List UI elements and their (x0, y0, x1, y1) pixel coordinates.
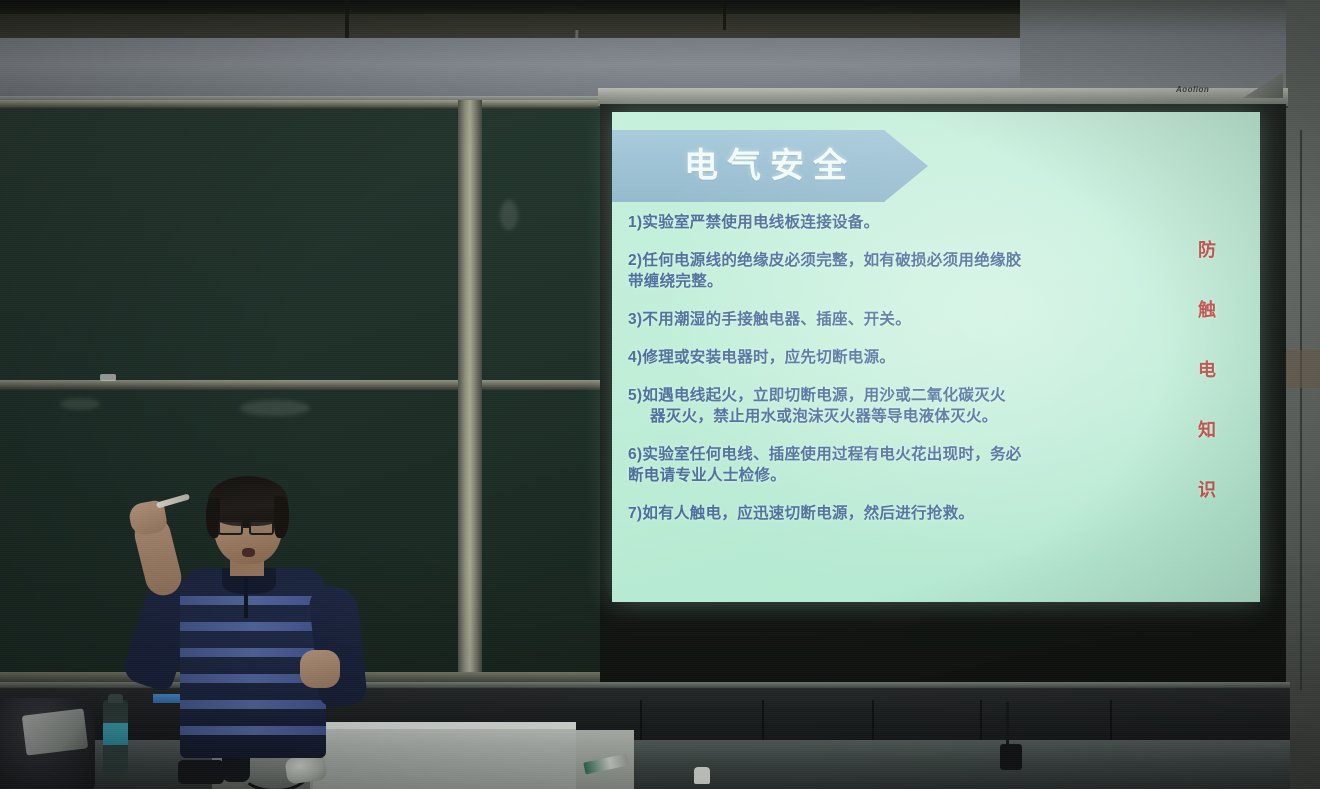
slide-list-item: 5)如遇电线起火，立即切断电源，用沙或二氧化碳灭火 器灭火，禁止用水或泡沫灭火器… (628, 385, 1128, 427)
slide-item-text: 实验室严禁使用电线板连接设备。 (642, 214, 879, 231)
side-note-char: 电 (1198, 360, 1216, 380)
slide-body: 1)实验室严禁使用电线板连接设备。 2)任何电源线的绝缘皮必须完整，如有破损必须… (628, 212, 1128, 541)
power-cable (1006, 702, 1009, 748)
lecturer-mouth (242, 548, 255, 557)
slide-item-number: 1) (628, 214, 642, 231)
slide-item-number: 7) (628, 505, 642, 522)
ceiling-beam-seam-secondary (723, 0, 726, 30)
chalkboard-frame-top (0, 100, 620, 109)
slide-item-number: 6) (628, 446, 642, 463)
small-desk-object (694, 767, 710, 784)
paper-sheet (22, 708, 88, 755)
shirt-stripe (180, 726, 326, 735)
slide-item-text: 任何电源线的绝缘皮必须完整，如有破损必须用绝缘胶 (642, 252, 1021, 269)
right-wall-seam (1300, 130, 1302, 690)
slide-item-number: 2) (628, 252, 642, 269)
power-plug (1000, 744, 1022, 770)
side-note-char: 防 (1198, 240, 1216, 260)
lecture-hall-scene: Aoolion 电气安全 1)实验室严禁使用电线板连接设备。 2)任何电源线的绝… (0, 0, 1320, 789)
shirt-stripe (180, 596, 326, 605)
lecturer (118, 468, 368, 789)
shirt-stripe (180, 622, 326, 631)
shirt-placket (244, 578, 248, 618)
slide-item-number: 5) (628, 387, 642, 404)
slide-title: 电气安全 (684, 140, 904, 192)
slide-item-text: 不用潮湿的手接触电器、插座、开关。 (642, 311, 911, 328)
slide-item-text-cont: 断电请专业人士检修。 (628, 465, 1128, 486)
eyeglasses-bridge (242, 526, 251, 528)
slide-list-item: 2)任何电源线的绝缘皮必须完整，如有破损必须用绝缘胶 带缠绕完整。 (628, 250, 1128, 292)
side-note-char: 触 (1198, 300, 1216, 320)
projector-screen: 电气安全 1)实验室严禁使用电线板连接设备。 2)任何电源线的绝缘皮必须完整，如… (612, 112, 1260, 602)
right-wall-column (1286, 0, 1320, 789)
slide-list-item: 1)实验室严禁使用电线板连接设备。 (628, 212, 1128, 233)
slide-item-text: 如有人触电，应迅速切断电源，然后进行抢救。 (642, 505, 974, 522)
chalkboard-frame-middle-rail (0, 380, 620, 390)
chalk-piece (100, 374, 116, 381)
slide-item-number: 3) (628, 311, 642, 328)
side-note-char: 识 (1198, 480, 1216, 500)
slide-item-text: 如遇电线起火，立即切断电源，用沙或二氧化碳灭火 (642, 387, 1005, 404)
chalkboard-frame-divider (458, 100, 482, 696)
chalk-smudge (500, 200, 518, 230)
slide-list-item: 4)修理或安装电器时，应先切断电源。 (628, 347, 1128, 368)
slide-item-number: 4) (628, 349, 642, 366)
slide-item-text-cont: 器灭火，禁止用水或泡沫灭火器等导电液体灭火。 (628, 406, 1128, 427)
chalk-smudge (240, 400, 310, 416)
slide-side-note: 防 触 电 知 识 (1198, 240, 1216, 540)
right-wall-patch (1286, 350, 1320, 388)
screen-brand-logo: Aoolion (1176, 84, 1234, 95)
chalkboard-right-panel (480, 104, 620, 690)
lecturer-hand-left (300, 650, 340, 688)
slide-item-text: 实验室任何电线、插座使用过程有电火花出现时，务必 (642, 446, 1021, 463)
pointer-stick (156, 493, 190, 508)
ceiling-beam-seam (345, 0, 349, 38)
slide-item-text-cont: 带缠绕完整。 (628, 271, 1128, 292)
slide-list-item: 6)实验室任何电线、插座使用过程有电火花出现时，务必 断电请专业人士检修。 (628, 444, 1128, 486)
slide-list-item: 3)不用潮湿的手接触电器、插座、开关。 (628, 309, 1128, 330)
presentation-slide: 电气安全 1)实验室严禁使用电线板连接设备。 2)任何电源线的绝缘皮必须完整，如… (612, 112, 1260, 602)
eyeglasses-icon (218, 520, 243, 535)
chalk-smudge (60, 398, 100, 410)
lecturer-hair-right (274, 496, 289, 538)
side-note-char: 知 (1198, 420, 1216, 440)
shirt-stripe (180, 700, 326, 709)
slide-item-text: 修理或安装电器时，应先切断电源。 (642, 349, 895, 366)
eyeglasses-icon (249, 520, 274, 535)
slide-list-item: 7)如有人触电，应迅速切断电源，然后进行抢救。 (628, 503, 1128, 524)
